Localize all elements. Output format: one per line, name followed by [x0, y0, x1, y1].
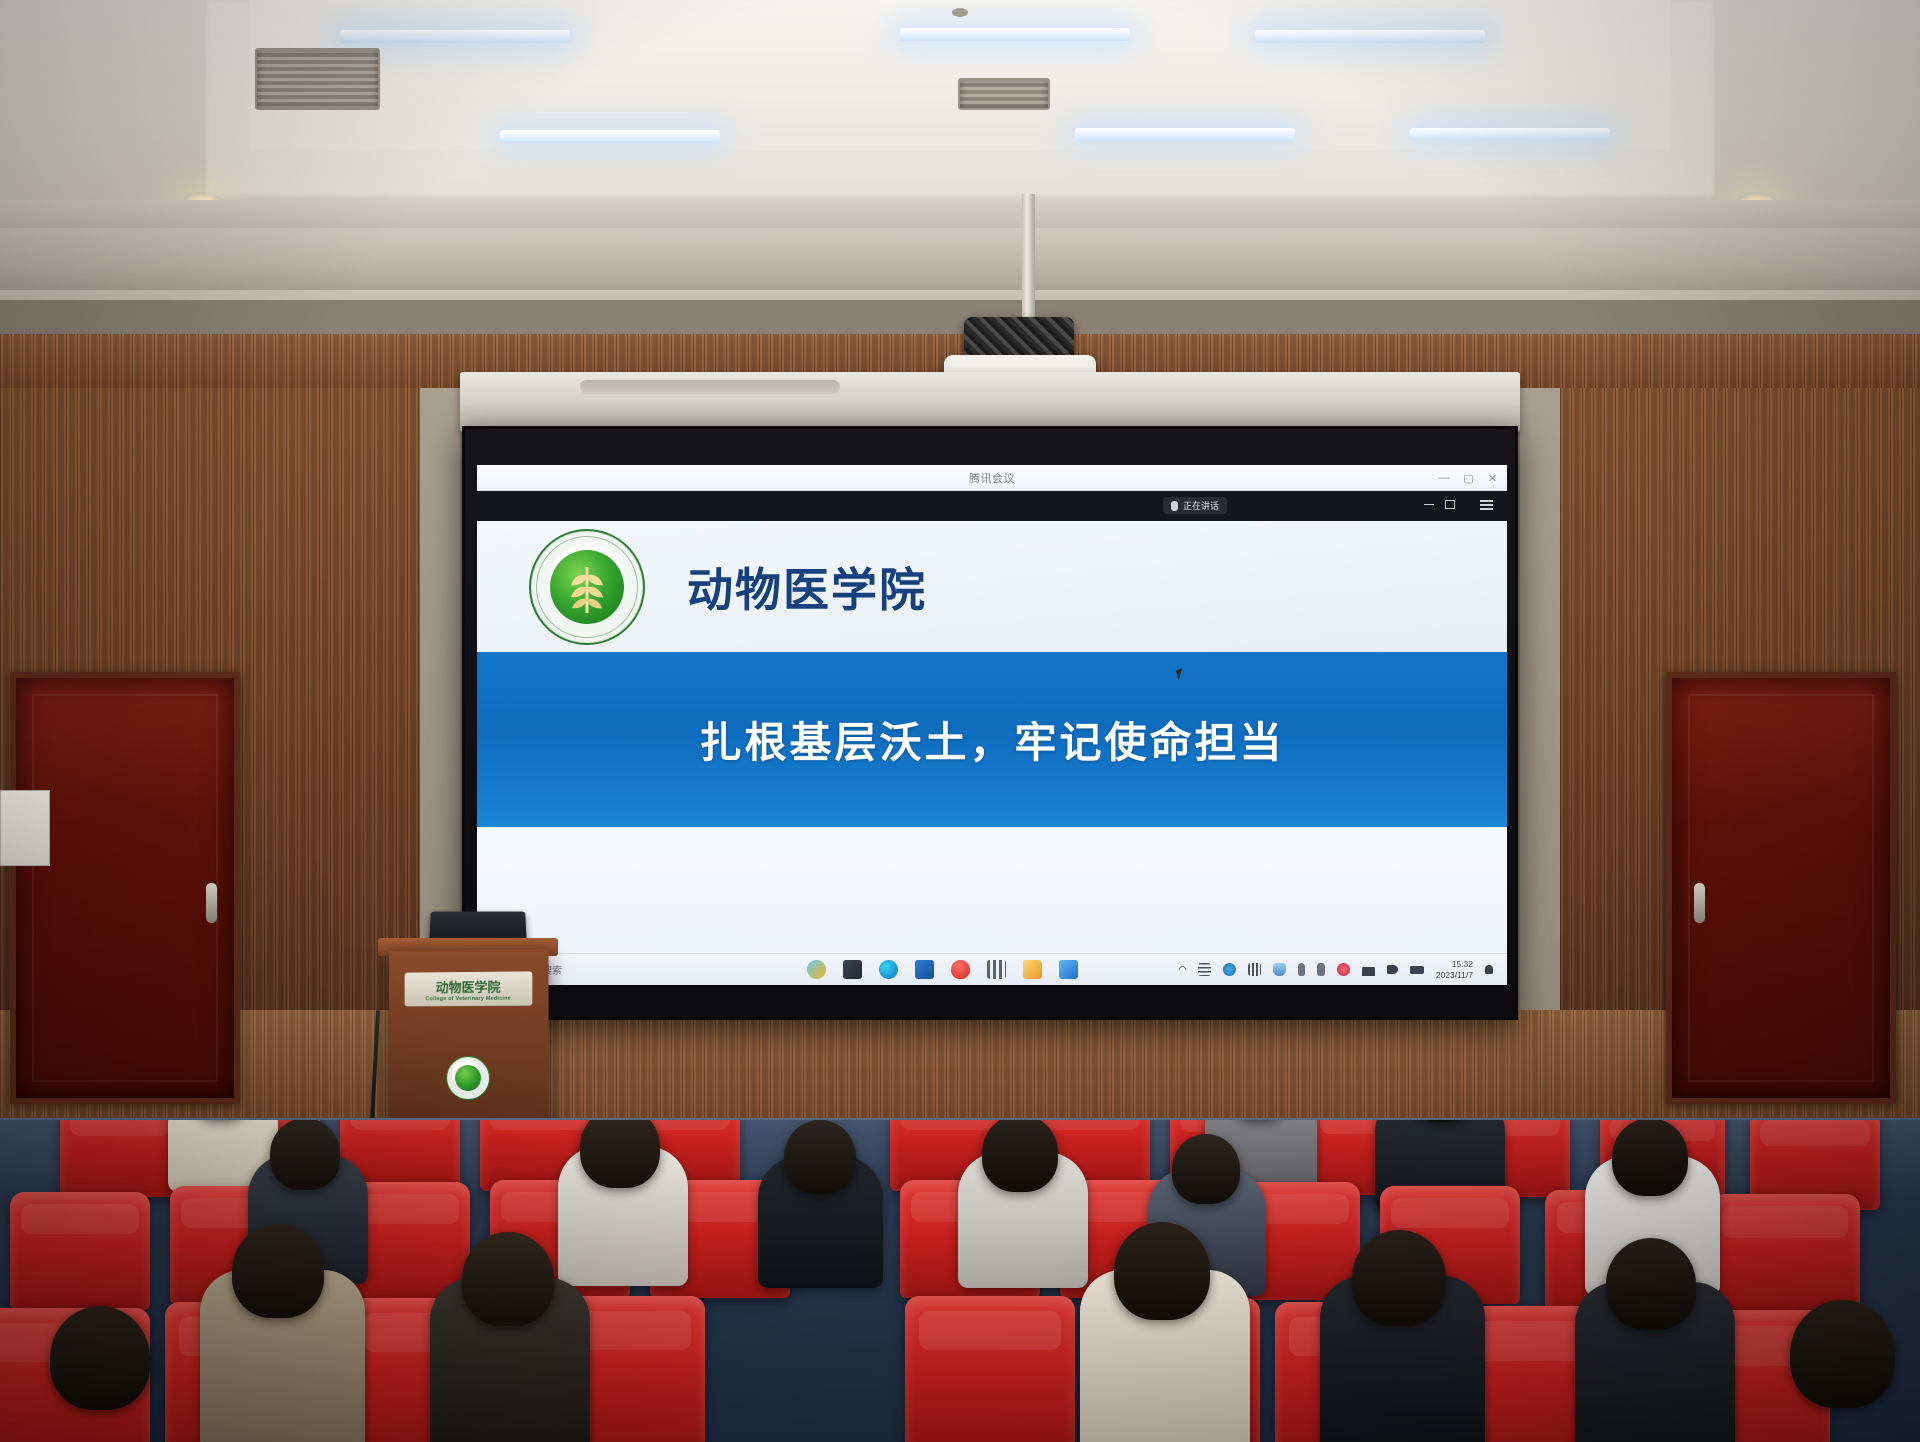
clock-time: 15:32 — [1452, 959, 1473, 969]
minimize-icon[interactable]: — — [1438, 472, 1449, 484]
volume-icon[interactable] — [1387, 965, 1398, 974]
folder-icon[interactable] — [1023, 960, 1042, 979]
microphone-icon[interactable] — [1298, 963, 1305, 976]
projected-desktop: 腾讯会议 — ▢ ✕ 正在讲话 — [477, 465, 1507, 985]
clock-date: 2023/11/7 — [1436, 970, 1473, 980]
slide-banner: 扎根基层沃土，牢记使命担当 — [477, 652, 1507, 827]
audience-head — [270, 1120, 340, 1190]
ceiling-light-tube — [1410, 128, 1610, 140]
door-handle-icon[interactable] — [206, 883, 217, 923]
hamburger-menu-icon[interactable] — [1480, 500, 1493, 511]
podium-plate-cn: 动物医学院 — [436, 976, 501, 996]
podium-nameplate: 动物医学院 College of Veterinary Medicine — [405, 971, 533, 1006]
ceiling-light-tube — [900, 28, 1130, 41]
meeting-window-titlebar: 腾讯会议 — ▢ ✕ — [477, 465, 1507, 491]
audience-head — [580, 1120, 660, 1188]
qq-icon[interactable] — [951, 960, 970, 979]
smoke-detector — [952, 8, 968, 17]
audience-head — [1352, 1230, 1446, 1326]
maximize-icon[interactable] — [1445, 500, 1455, 509]
weather-icon[interactable] — [807, 960, 826, 979]
audience-head — [462, 1232, 554, 1326]
audience-head — [784, 1120, 856, 1194]
taskbar-apps[interactable] — [807, 960, 1078, 979]
window-controls[interactable]: — ▢ ✕ — [1438, 465, 1497, 491]
wifi-icon[interactable] — [1362, 963, 1375, 976]
college-name: 动物医学院 — [687, 554, 927, 620]
slide-header: 动物医学院 — [477, 521, 1507, 652]
wheat-emblem-icon — [564, 563, 610, 615]
window-title: 腾讯会议 — [969, 470, 1015, 486]
ceiling — [0, 0, 1920, 290]
screen-roller — [580, 380, 840, 394]
audience-head — [982, 1120, 1058, 1192]
projector-pole — [1022, 194, 1035, 319]
ceiling-band — [0, 200, 1920, 228]
lecture-hall-photo: EPSON 腾讯会议 — ▢ ✕ 正在讲话 — [0, 0, 1920, 1442]
seat[interactable] — [1710, 1194, 1860, 1316]
chevron-up-icon[interactable] — [1177, 965, 1187, 975]
presentation-slide: 动物医学院 扎根基层沃土，牢记使命担当 — [477, 521, 1507, 985]
university-crest-icon — [529, 529, 645, 645]
air-vent — [255, 48, 380, 110]
globe-icon[interactable] — [1223, 963, 1236, 976]
close-icon[interactable]: ✕ — [1488, 472, 1497, 485]
antivirus-icon[interactable] — [1337, 963, 1350, 976]
wall-panel-right — [1520, 388, 1560, 1088]
projection-screen: 腾讯会议 — ▢ ✕ 正在讲话 — [462, 426, 1518, 1020]
microphone-icon — [1171, 501, 1178, 511]
audience-head — [1612, 1120, 1688, 1196]
seat[interactable] — [10, 1192, 150, 1310]
ceiling-light-tube — [1255, 30, 1485, 43]
bell-icon[interactable] — [1485, 965, 1493, 974]
ceiling-light-tube — [500, 130, 720, 143]
meeting-app-icon[interactable] — [1059, 960, 1078, 979]
speaking-badge: 正在讲话 — [1163, 497, 1227, 514]
door-handle-icon[interactable] — [1694, 883, 1705, 923]
podium-plate-en: College of Veterinary Medicine — [425, 995, 511, 1002]
ceiling-light-tube — [1075, 128, 1295, 141]
ceiling-light-tube — [340, 30, 570, 43]
equalizer-icon[interactable] — [1248, 963, 1261, 976]
audience-head — [232, 1224, 324, 1318]
door-left[interactable] — [10, 672, 240, 1104]
air-vent — [958, 78, 1050, 110]
audience-head — [1606, 1238, 1696, 1330]
meeting-app-toolbar: 正在讲话 — [477, 491, 1507, 521]
seat[interactable] — [905, 1296, 1075, 1442]
maximize-icon[interactable]: ▢ — [1463, 472, 1473, 485]
door-panel — [1688, 694, 1874, 1082]
speaking-label: 正在讲话 — [1183, 499, 1219, 512]
settings-sliders-icon[interactable] — [1198, 963, 1211, 976]
ceiling-band-lower — [0, 228, 1920, 290]
taskbar-clock[interactable]: 15:32 2023/11/7 — [1436, 959, 1473, 980]
slide-banner-title: 扎根基层沃土，牢记使命担当 — [699, 709, 1284, 770]
file-explorer-legacy-icon[interactable] — [843, 960, 862, 979]
battery-icon[interactable] — [1410, 966, 1424, 974]
bluetooth-icon[interactable] — [1317, 963, 1325, 976]
chart-app-icon[interactable] — [987, 960, 1006, 979]
audience-head — [50, 1306, 150, 1410]
podium-crest-icon — [446, 1056, 490, 1100]
screen-housing — [460, 372, 1520, 432]
seat[interactable] — [60, 1120, 180, 1197]
meeting-window-controls[interactable] — [1424, 500, 1455, 509]
audience-area — [0, 1120, 1920, 1442]
office-icon[interactable] — [915, 960, 934, 979]
shield-icon[interactable] — [1273, 963, 1286, 976]
audience-head — [1172, 1134, 1240, 1204]
audience-head — [1114, 1222, 1210, 1320]
windows-taskbar: 搜索 — [477, 953, 1507, 985]
edge-icon[interactable] — [879, 960, 898, 979]
minimize-icon[interactable] — [1424, 500, 1434, 505]
system-tray[interactable]: 15:32 2023/11/7 — [1179, 959, 1507, 980]
door-right[interactable] — [1666, 672, 1896, 1104]
audience-head — [1790, 1300, 1895, 1408]
wall-sign — [0, 790, 50, 866]
door-panel — [32, 694, 218, 1082]
